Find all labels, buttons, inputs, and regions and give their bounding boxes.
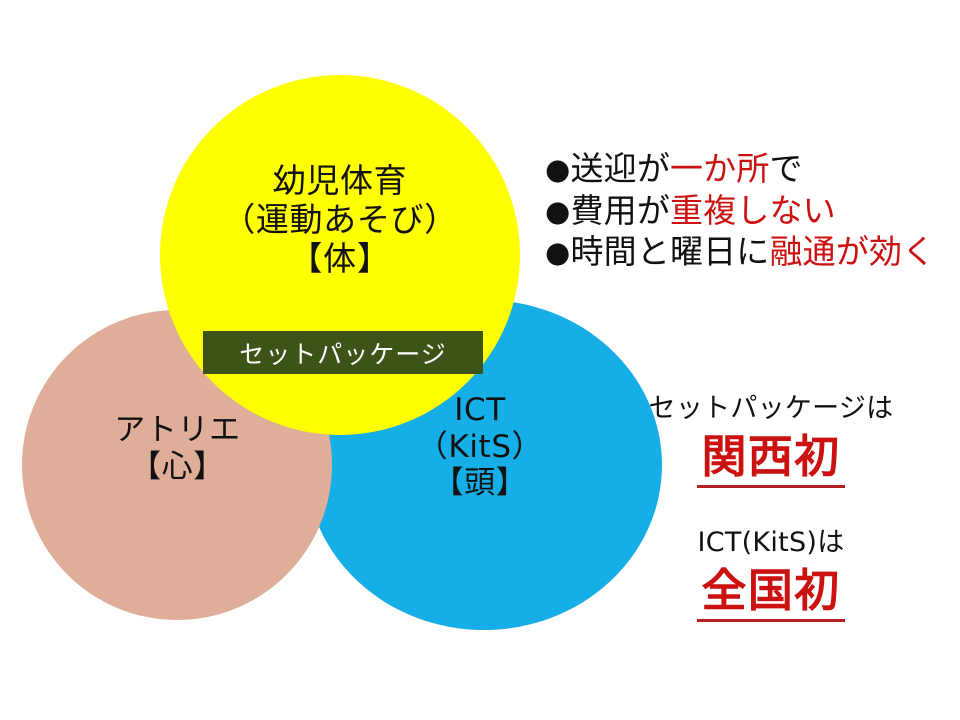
claim-kansai-first: セットパッケージは 関西初 (612, 394, 930, 488)
venn-label-ict: ICT （KitS） 【頭】 (370, 392, 590, 502)
bullet-highlight-2: 重複しない (670, 191, 836, 230)
bullet-highlight-3: 融通が効く (769, 232, 935, 271)
venn-label-atelier: アトリエ 【心】 (65, 412, 290, 485)
bullet-dot-icon: ● (545, 193, 570, 227)
claim-nationwide-lead: ICT(KitS)は (640, 528, 902, 558)
bullet-text-plain-2a: 費用が (570, 191, 670, 230)
set-package-banner: セットパッケージ (203, 331, 483, 374)
slide-canvas: 幼児体育 （運動あそび） 【体】 アトリエ 【心】 ICT （KitS） 【頭】… (0, 0, 960, 720)
venn-label-youji-taiiku: 幼児体育 （運動あそび） 【体】 (190, 162, 490, 279)
bullet-dot-icon: ● (545, 235, 570, 269)
bullet-text-plain-1a: 送迎が (570, 149, 670, 188)
bullet-item-1: ●送迎が一か所で (545, 148, 935, 190)
set-package-banner-label: セットパッケージ (239, 335, 447, 371)
bullet-item-2: ●費用が重複しない (545, 190, 935, 232)
claim-kansai-emphasis: 関西初 (697, 432, 844, 488)
bullet-item-3: ●時間と曜日に融通が効く (545, 231, 935, 273)
claim-kansai-lead: セットパッケージは (612, 394, 930, 424)
bullet-text-plain-3a: 時間と曜日に (570, 232, 769, 271)
benefit-bullet-list: ●送迎が一か所で ●費用が重複しない ●時間と曜日に融通が効く (545, 148, 935, 273)
bullet-highlight-1: 一か所 (670, 149, 770, 188)
claim-nationwide-emphasis: 全国初 (697, 566, 844, 622)
claim-nationwide-first: ICT(KitS)は 全国初 (640, 528, 902, 622)
bullet-text-plain-1b: で (769, 149, 802, 188)
bullet-dot-icon: ● (545, 152, 570, 186)
